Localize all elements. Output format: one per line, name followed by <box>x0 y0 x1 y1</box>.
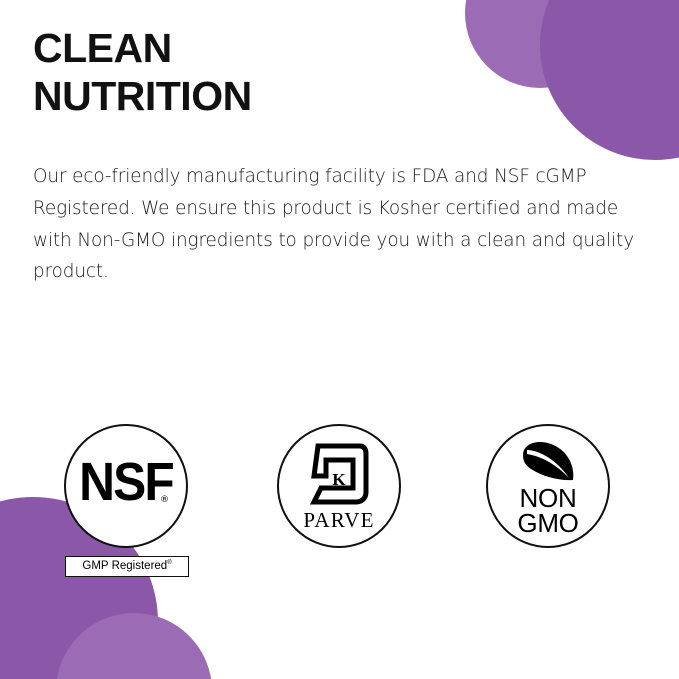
kosher-k-letter: K <box>277 470 401 490</box>
leaf-icon <box>486 441 610 488</box>
gmp-registered-caption: GMP Registered® <box>65 556 189 577</box>
body-paragraph: Our eco-friendly manufacturing facility … <box>33 161 643 288</box>
non-gmo-label: NON GMO <box>486 486 610 536</box>
gmp-registered-symbol: ® <box>167 560 171 566</box>
certification-badge-row: NSF ® GMP Registered® K PARVE <box>0 424 679 604</box>
gmp-registered-label: GMP Registered <box>82 560 167 572</box>
badge-non-gmo: NON GMO <box>486 424 610 548</box>
page-title: CLEAN NUTRITION <box>33 24 453 121</box>
headline-line-2: NUTRITION <box>33 72 453 120</box>
non-gmo-line-2: GMO <box>486 511 610 536</box>
badge-kosher-parve: K PARVE <box>277 424 401 548</box>
product-infographic-panel: CLEAN NUTRITION Our eco-friendly manufac… <box>0 0 679 679</box>
decorative-circle-top-right-dark <box>540 0 679 160</box>
nsf-registered-symbol: ® <box>160 495 169 505</box>
badge-nsf: NSF ® GMP Registered® <box>64 424 188 548</box>
parve-label: PARVE <box>277 508 401 533</box>
headline-line-1: CLEAN <box>33 24 453 72</box>
